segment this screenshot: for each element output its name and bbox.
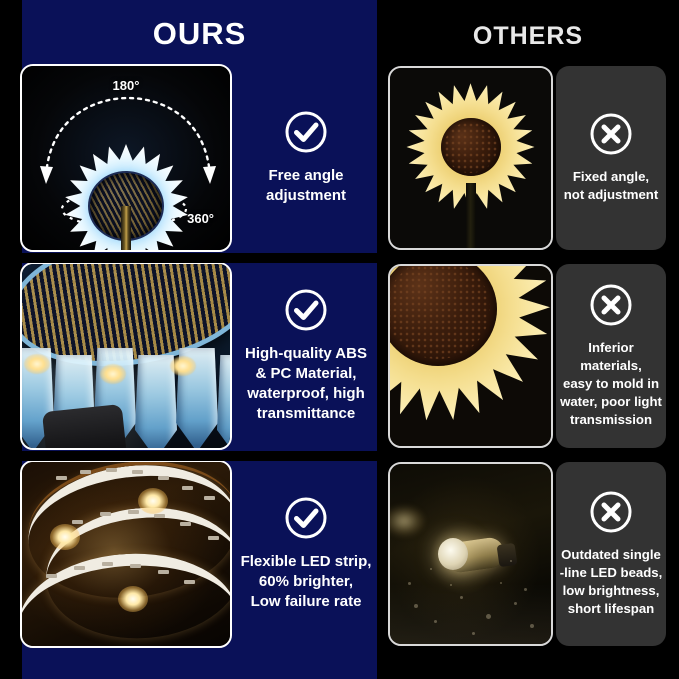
check-icon — [284, 496, 328, 540]
bulb-cap — [497, 543, 518, 567]
angle-label-360: 360° — [187, 211, 214, 226]
water-droplet — [414, 604, 418, 608]
led-chip — [158, 476, 169, 480]
ours-caption-text-1: Free angle adjustment — [264, 166, 348, 206]
others-caption-text-3: Outdated single -line LED beads, low bri… — [558, 546, 665, 617]
ours-heading: OURS — [22, 16, 377, 52]
others-caption-1: Fixed angle, not adjustment — [556, 66, 666, 250]
water-droplet — [434, 620, 437, 623]
led-chip — [132, 470, 143, 474]
comparison-row-3: Flexible LED strip, 60% brighter, Low fa… — [0, 460, 679, 650]
comparison-infographic: OURS OTHERS 180° 360° — [0, 0, 679, 679]
dim-bulb-illustration — [390, 464, 551, 644]
led-chip — [106, 468, 117, 472]
others-image-card-2 — [388, 264, 553, 448]
check-icon — [284, 110, 328, 154]
water-droplet — [530, 624, 534, 628]
water-droplet — [486, 614, 491, 619]
cross-icon — [589, 490, 633, 534]
others-caption-2: Inferior materials, easy to mold in wate… — [556, 264, 666, 448]
led-chip — [80, 470, 91, 474]
comparison-row-2: High-quality ABS & PC Material, waterpro… — [0, 262, 679, 452]
sunflower-head-2 — [388, 264, 553, 424]
led-strip-illustration — [22, 462, 230, 646]
others-caption-text-1: Fixed angle, not adjustment — [562, 168, 661, 204]
angle-label-180: 180° — [22, 78, 230, 93]
bulb-head — [438, 538, 468, 570]
others-caption-3: Outdated single -line LED beads, low bri… — [556, 462, 666, 646]
sunflower-illustration-2 — [390, 266, 551, 446]
led-chip — [46, 574, 57, 578]
led-glow-dot — [50, 524, 80, 550]
water-droplet — [514, 602, 517, 605]
background-bulb-blur — [388, 506, 424, 536]
check-icon — [284, 288, 328, 332]
water-droplet — [430, 568, 432, 570]
ours-image-card-3 — [20, 460, 232, 648]
ours-caption-text-3: Flexible LED strip, 60% brighter, Low fa… — [239, 552, 374, 611]
cross-icon — [589, 112, 633, 156]
led-chip — [204, 496, 215, 500]
sunflower-stem-1 — [466, 183, 476, 250]
solar-flower-rotation-illustration: 180° 360° — [22, 66, 230, 250]
led-chip — [182, 486, 193, 490]
led-chip — [180, 522, 191, 526]
led-chip — [158, 570, 169, 574]
flower-stem — [121, 206, 131, 252]
header-row: OURS OTHERS — [0, 0, 679, 66]
water-droplet — [510, 560, 512, 562]
water-droplet — [460, 596, 463, 599]
led-chip — [102, 562, 113, 566]
led-chip — [208, 536, 219, 540]
water-droplet — [472, 632, 475, 635]
others-image-card-3 — [388, 462, 553, 646]
acrylic-petal-macro-illustration — [22, 264, 230, 448]
ours-caption-text-2: High-quality ABS & PC Material, waterpro… — [243, 344, 369, 423]
water-droplet — [450, 584, 452, 586]
wet-ground-sheen — [390, 584, 551, 644]
water-droplet — [408, 582, 411, 585]
led-chip — [128, 510, 139, 514]
ours-caption-2: High-quality ABS & PC Material, waterpro… — [238, 262, 374, 450]
others-heading: OTHERS — [377, 22, 679, 51]
led-chip — [72, 520, 83, 524]
led-chip — [56, 476, 67, 480]
cross-icon — [589, 283, 633, 327]
led-glow — [24, 354, 50, 374]
others-caption-text-2: Inferior materials, easy to mold in wate… — [556, 339, 666, 428]
light-base — [42, 404, 126, 450]
led-glow-dot — [118, 586, 148, 612]
ours-caption-1: Free angle adjustment — [238, 64, 374, 252]
others-image-card-1 — [388, 66, 553, 250]
row-separator-1 — [0, 253, 679, 263]
led-chip — [154, 514, 165, 518]
comparison-row-1: 180° 360° — [0, 64, 679, 254]
sunflower-center-1 — [441, 118, 501, 176]
led-chip — [74, 566, 85, 570]
led-glow — [170, 356, 196, 376]
led-chip — [184, 580, 195, 584]
sunflower-illustration-1 — [390, 68, 551, 248]
water-droplet — [524, 588, 527, 591]
water-droplet — [500, 582, 502, 584]
led-glow — [100, 364, 126, 384]
row-separator-2 — [0, 451, 679, 461]
led-chip — [130, 564, 141, 568]
acrylic-petal — [217, 355, 232, 450]
ours-image-card-1: 180° 360° — [20, 64, 232, 252]
ours-caption-3: Flexible LED strip, 60% brighter, Low fa… — [238, 460, 374, 648]
led-chip — [100, 512, 111, 516]
led-glow-dot — [138, 488, 168, 514]
ours-image-card-2 — [20, 262, 232, 450]
